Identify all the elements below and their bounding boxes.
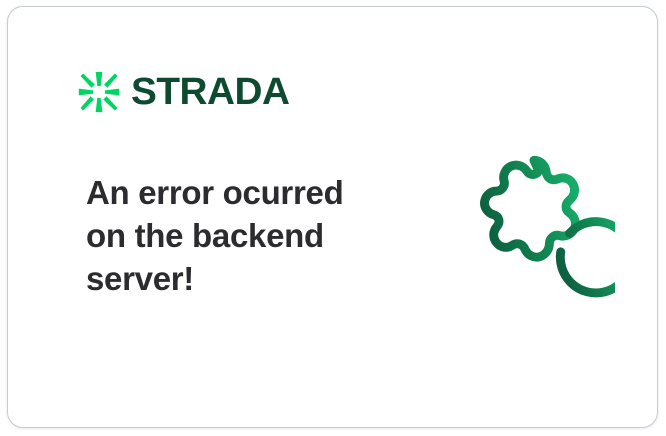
error-card: STRADA An error ocurred on the backend s… (7, 6, 658, 428)
gear-icon (453, 149, 615, 311)
brand-lockup: STRADA (78, 71, 286, 113)
brand-wordmark: STRADA (131, 73, 289, 111)
strada-asterisk-icon (78, 71, 120, 113)
error-message-headline: An error ocurred on the backend server! (86, 171, 386, 300)
